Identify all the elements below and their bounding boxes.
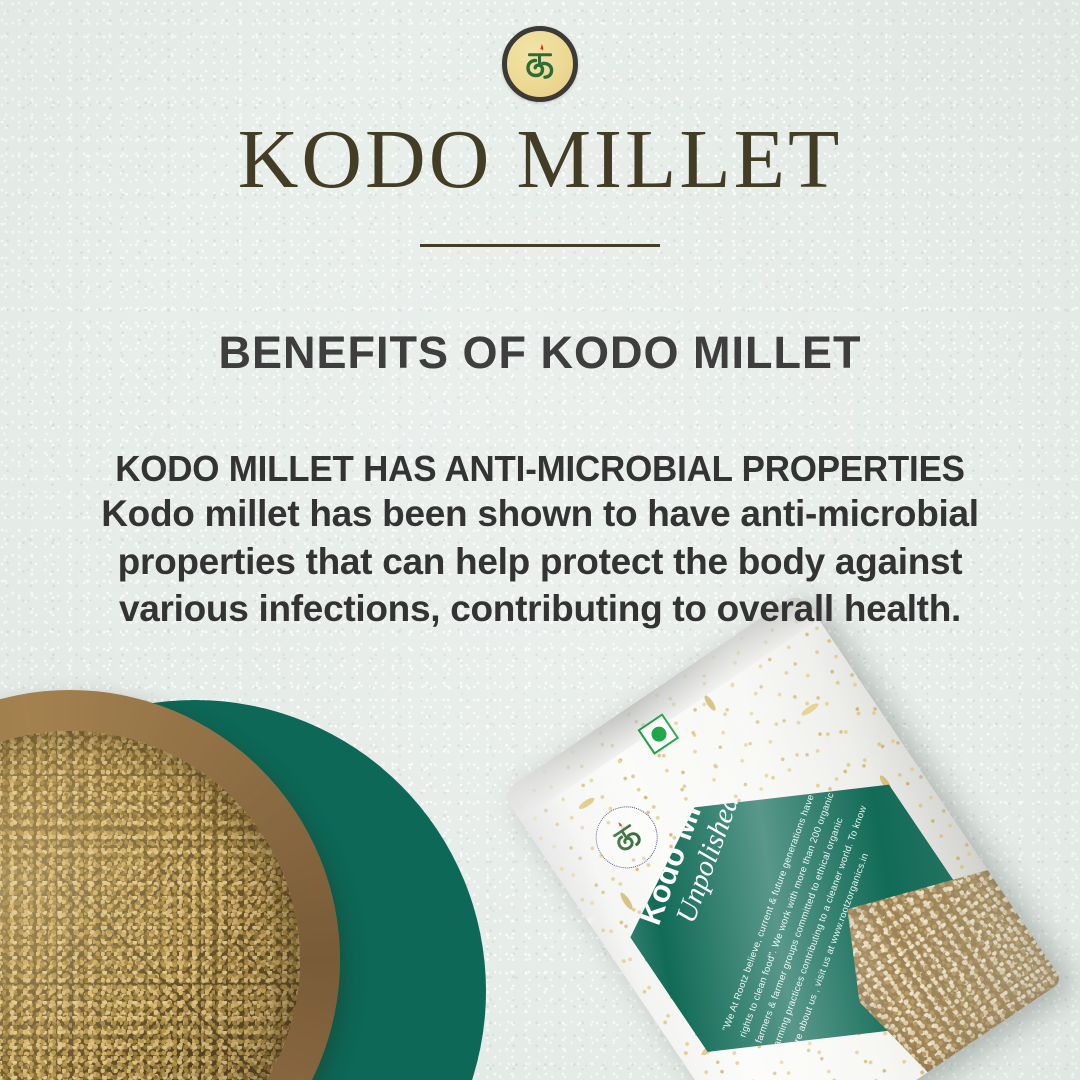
benefit-text-block: KODO MILLET HAS ANTI-MICROBIAL PROPERTIE… (60, 448, 1020, 633)
page-title: KODO MILLET (0, 118, 1080, 202)
veg-mark-dot (648, 724, 669, 745)
brand-logo (502, 26, 578, 102)
rootz-seal-icon (599, 810, 655, 866)
brand-logo-badge (502, 26, 578, 102)
poster-canvas: KODO MILLET BENEFITS OF KODO MILLET KODO… (0, 0, 1080, 1080)
product-package: Kodo Millet Unpolished "We At Rootz beli… (501, 592, 1062, 1080)
benefit-headline: KODO MILLET HAS ANTI-MICROBIAL PROPERTIE… (74, 448, 1005, 490)
title-block: KODO MILLET (0, 118, 1080, 247)
section-subtitle: BENEFITS OF KODO MILLET (0, 327, 1080, 379)
rootz-seal-icon (517, 41, 563, 87)
title-divider (420, 244, 660, 247)
benefit-line-1: Kodo millet has been shown to have anti-… (60, 490, 1020, 537)
benefit-line-3: various infections, contributing to over… (60, 585, 1020, 632)
benefit-line-2: properties that can help protect the bod… (60, 538, 1020, 585)
